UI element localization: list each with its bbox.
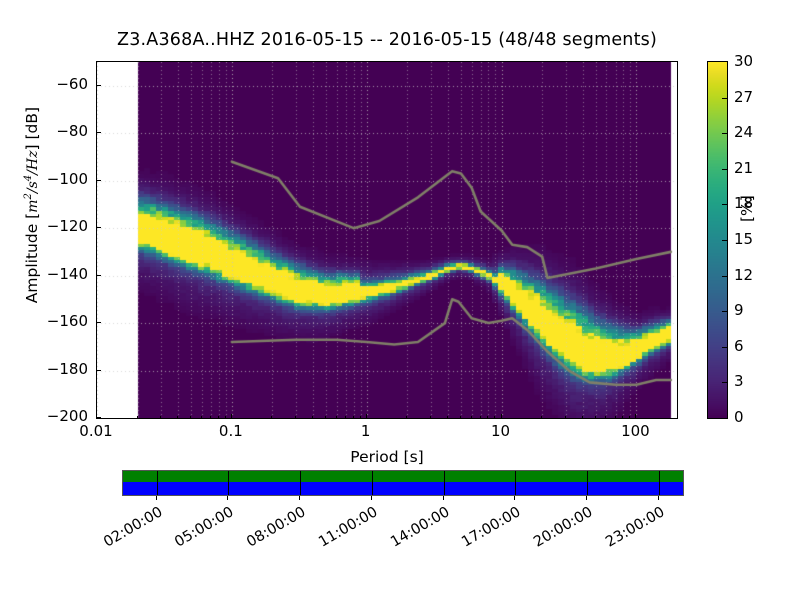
colorbar-tick-mark [722,347,728,348]
x-tick-label: 100 [621,424,650,439]
x-tick-mark [231,414,232,419]
time-tick-mark [514,496,515,500]
y-tick-mark [96,322,101,323]
y-tick-label: −180 [42,362,88,377]
x-tick-minor-mark [210,416,211,419]
colorbar-tick-label: 15 [734,232,753,247]
colorbar-tick-label: 21 [734,161,753,176]
colorbar-tick-mark [722,311,728,312]
time-axis-label: 17:00:00 [458,505,524,552]
y-tick-mark [96,180,101,181]
y-axis-label-math-sup2: 2 [23,193,34,199]
y-tick-label: −140 [42,267,88,282]
x-tick-label: 1 [361,424,371,439]
x-axis-label: Period [s] [96,448,678,466]
time-tick-mark [299,496,300,500]
ppsd-histogram-canvas [97,62,677,418]
x-tick-minor-mark [271,416,272,419]
colorbar-tick-mark [722,204,728,205]
x-tick-minor-mark [629,416,630,419]
time-axis-label: 23:00:00 [601,505,667,552]
colorbar-tick-label: 6 [734,339,744,354]
x-tick-mark [366,414,367,419]
page-title: Z3.A368A..HHZ 2016-05-15 -- 2016-05-15 (… [96,30,678,50]
y-tick-label: −60 [42,77,88,92]
colorbar-tick-mark [722,98,728,99]
ppsd-plot-area [96,61,678,419]
y-tick-mark [96,132,101,133]
x-tick-minor-mark [360,416,361,419]
coverage-tick [372,471,373,495]
time-axis-label: 20:00:00 [529,505,595,552]
y-tick-mark [96,227,101,228]
x-tick-minor-mark [541,416,542,419]
x-tick-minor-mark [605,416,606,419]
y-tick-label: −80 [42,124,88,139]
time-tick-mark [443,496,444,500]
time-axis-label: 08:00:00 [242,505,308,552]
time-tick-mark [156,496,157,500]
x-tick-label: 0.01 [79,424,112,439]
x-tick-minor-mark [565,416,566,419]
x-tick-minor-mark [595,416,596,419]
y-tick-label: −160 [42,314,88,329]
x-tick-minor-mark [177,416,178,419]
x-tick-minor-mark [325,416,326,419]
coverage-band-green [123,471,683,482]
y-axis-label: Amplitude [m2/s4/Hz] [dB] [23,55,41,355]
x-tick-mark [501,414,502,419]
y-axis-label-math-s: s [25,181,41,188]
x-tick-minor-mark [480,416,481,419]
x-tick-mark [96,414,97,419]
x-tick-minor-mark [447,416,448,419]
x-tick-minor-mark [312,416,313,419]
y-tick-label: −100 [42,172,88,187]
coverage-tick [228,471,229,495]
coverage-tick [444,471,445,495]
y-tick-mark [96,85,101,86]
y-tick-label: −120 [42,219,88,234]
x-tick-minor-mark [137,416,138,419]
coverage-tick [515,471,516,495]
coverage-tick [300,471,301,495]
colorbar-tick-label: 3 [734,374,744,389]
coverage-band-blue [123,482,683,495]
x-tick-minor-mark [295,416,296,419]
y-axis-label-math-hz: Hz [25,151,41,171]
time-coverage-bar [122,470,684,496]
x-tick-minor-mark [494,416,495,419]
x-tick-minor-mark [487,416,488,419]
time-axis-label: 14:00:00 [386,505,452,552]
x-tick-minor-mark [160,416,161,419]
x-tick-minor-mark [218,416,219,419]
coverage-tick [587,471,588,495]
colorbar-tick-label: 24 [734,125,753,140]
x-tick-minor-mark [622,416,623,419]
time-axis-label: 05:00:00 [170,505,236,552]
x-tick-label: 0.1 [219,424,243,439]
colorbar-tick-mark [722,240,728,241]
x-tick-minor-mark [353,416,354,419]
colorbar-tick-label: 12 [734,268,753,283]
y-tick-mark [96,370,101,371]
coverage-tick [659,471,660,495]
y-axis-label-math-m: m [25,200,41,213]
y-tick-mark [96,275,101,276]
x-tick-minor-mark [615,416,616,419]
time-tick-mark [658,496,659,500]
time-axis-label: 02:00:00 [99,505,165,552]
y-axis-label-prefix: Amplitude [ [23,213,41,303]
colorbar-tick-mark [722,133,728,134]
x-tick-minor-mark [582,416,583,419]
colorbar-tick-label: 30 [734,54,753,69]
colorbar-tick-mark [722,169,728,170]
colorbar-tick-label: 0 [734,410,744,425]
y-axis-label-math-slash1: / [25,188,41,193]
x-tick-minor-mark [336,416,337,419]
x-tick-minor-mark [430,416,431,419]
x-tick-label: 10 [491,424,510,439]
time-tick-mark [227,496,228,500]
x-tick-minor-mark [406,416,407,419]
colorbar-tick-mark [722,276,728,277]
x-tick-minor-mark [471,416,472,419]
time-tick-mark [586,496,587,500]
ppsd-figure: Z3.A368A..HHZ 2016-05-15 -- 2016-05-15 (… [0,0,800,600]
x-tick-mark [635,414,636,419]
colorbar-tick-label: 27 [734,90,753,105]
x-tick-minor-mark [201,416,202,419]
x-tick-minor-mark [190,416,191,419]
y-axis-label-math-sup4: 4 [23,175,34,181]
x-tick-minor-mark [225,416,226,419]
time-axis-label: 11:00:00 [314,505,380,552]
x-tick-minor-mark [345,416,346,419]
colorbar-unit-label: [%] [738,195,756,222]
coverage-tick [157,471,158,495]
y-axis-label-suffix: ] [dB] [23,107,41,151]
colorbar-tick-mark [722,382,728,383]
y-axis-label-math-slash2: / [25,170,41,175]
time-tick-mark [371,496,372,500]
x-tick-minor-mark [460,416,461,419]
colorbar-tick-label: 9 [734,303,744,318]
